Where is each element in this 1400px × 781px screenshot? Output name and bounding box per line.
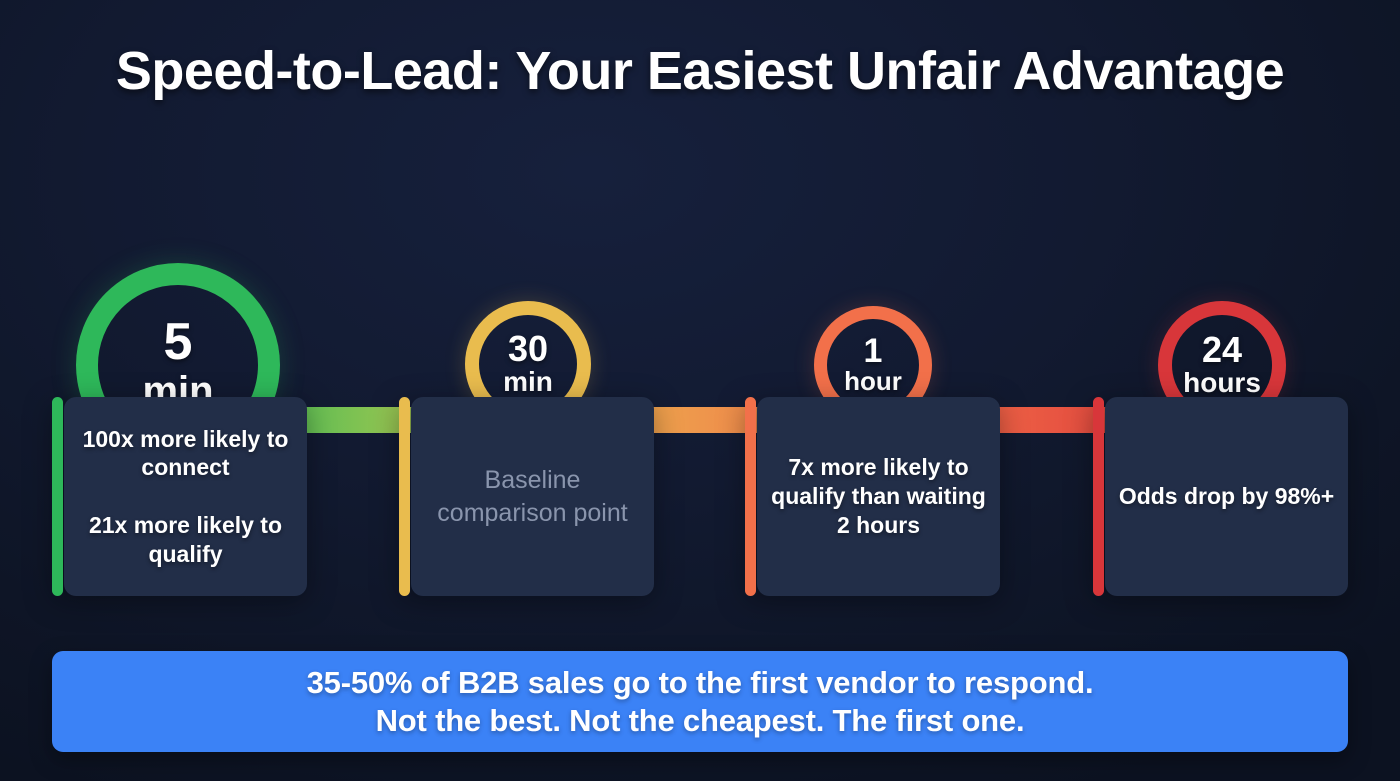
card-text-line: Odds drop by 98%+	[1119, 482, 1334, 511]
outcome-card-30-min: Baseline comparison point	[399, 397, 654, 596]
timeline-node-unit: hour	[844, 368, 902, 395]
timeline-node-number: 1	[864, 335, 883, 367]
infographic-canvas: Speed-to-Lead: Your Easiest Unfair Advan…	[0, 0, 1400, 781]
outcome-cards: 100x more likely to connect 21x more lik…	[0, 397, 1400, 597]
outcome-card-5-min: 100x more likely to connect 21x more lik…	[52, 397, 307, 596]
outcome-card-1-hour: 7x more likely to qualify than waiting 2…	[745, 397, 1000, 596]
timeline-node-number: 30	[508, 332, 548, 366]
banner-line-1: 35-50% of B2B sales go to the first vend…	[307, 664, 1094, 702]
footer-banner: 35-50% of B2B sales go to the first vend…	[52, 651, 1348, 752]
card-body: 7x more likely to qualify than waiting 2…	[757, 397, 1000, 596]
card-accent-bar	[745, 397, 756, 596]
page-title: Speed-to-Lead: Your Easiest Unfair Advan…	[0, 40, 1400, 102]
card-body: 100x more likely to connect 21x more lik…	[64, 397, 307, 596]
card-text-line: 100x more likely to connect	[76, 425, 295, 483]
card-accent-bar	[52, 397, 63, 596]
card-text-line: Baseline comparison point	[423, 464, 642, 530]
card-body: Baseline comparison point	[411, 397, 654, 596]
timeline-node-number: 5	[164, 318, 193, 367]
timeline: 5 min 30 min 1 hour 24 hours	[0, 155, 1400, 380]
card-body: Odds drop by 98%+	[1105, 397, 1348, 596]
timeline-node-number: 24	[1202, 333, 1242, 367]
outcome-card-24-hours: Odds drop by 98%+	[1093, 397, 1348, 596]
card-text-line: 7x more likely to qualify than waiting 2…	[769, 453, 988, 539]
card-accent-bar	[399, 397, 410, 596]
card-accent-bar	[1093, 397, 1104, 596]
banner-line-2: Not the best. Not the cheapest. The firs…	[376, 702, 1025, 740]
timeline-node-unit: hours	[1183, 368, 1261, 397]
timeline-node-unit: min	[503, 367, 553, 396]
card-text-line: 21x more likely to qualify	[76, 511, 295, 569]
